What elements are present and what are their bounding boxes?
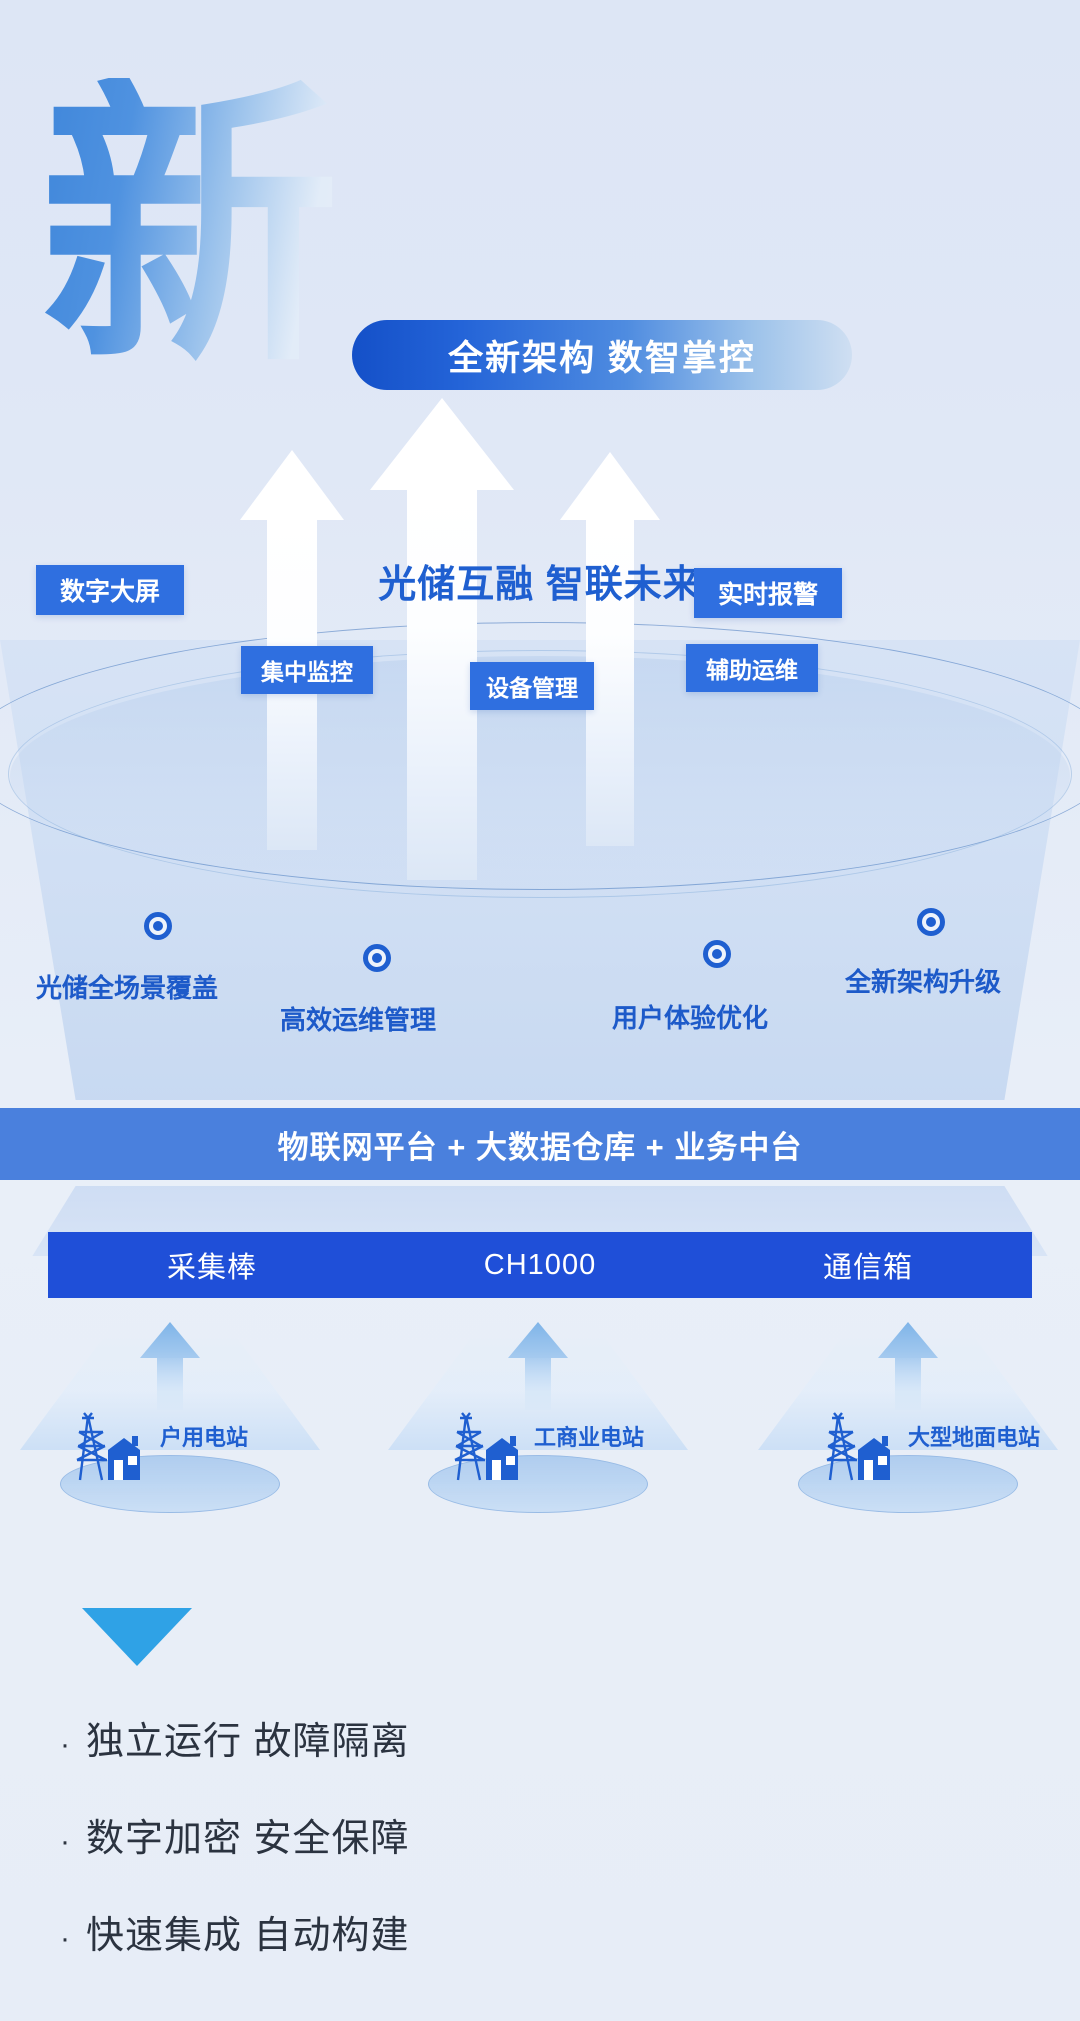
device-item-comm-box[interactable]: 通信箱 — [704, 1244, 1032, 1286]
list-item: · 数字加密 安全保障 — [60, 1807, 660, 1862]
device-item-collector[interactable]: 采集棒 — [48, 1244, 376, 1286]
bullet-marker: · — [60, 1730, 86, 1760]
bullet-text: 快速集成 自动构建 — [86, 1904, 410, 1959]
middle-platform-bar: 物联网平台 + 大数据仓库 + 业务中台 — [0, 1108, 1080, 1180]
chip-label: 数字大屏 — [60, 572, 160, 608]
power-tower-house-icon — [822, 1410, 902, 1493]
chip-central-monitoring[interactable]: 集中监控 — [241, 646, 373, 694]
list-item: · 快速集成 自动构建 — [60, 1904, 660, 1959]
bottom-bullet-list: · 独立运行 故障隔离 · 数字加密 安全保障 · 快速集成 自动构建 — [60, 1710, 660, 2001]
device-item-ch1000[interactable]: CH1000 — [376, 1249, 704, 1282]
power-tower-house-icon — [72, 1410, 152, 1493]
chip-digital-dashboard[interactable]: 数字大屏 — [36, 565, 184, 615]
growth-arrow-right — [560, 452, 660, 846]
list-item: · 独立运行 故障隔离 — [60, 1710, 660, 1765]
chip-realtime-alarm[interactable]: 实时报警 — [694, 568, 842, 618]
bullet-text: 数字加密 安全保障 — [86, 1807, 410, 1862]
marker-dot — [153, 921, 163, 931]
feature-marker-1 — [144, 912, 172, 940]
station-label-utility: 大型地面电站 — [908, 1420, 1040, 1452]
chip-label: 设备管理 — [486, 669, 578, 703]
device-bar: 采集棒 CH1000 通信箱 — [48, 1232, 1032, 1298]
feature-label-full-scene: 光储全场景覆盖 — [36, 968, 218, 1005]
feature-marker-4 — [917, 908, 945, 936]
feature-label-efficient-ops: 高效运维管理 — [280, 1000, 436, 1037]
chip-label: 实时报警 — [718, 575, 818, 611]
chip-label: 集中监控 — [261, 653, 353, 687]
growth-arrow-center — [370, 398, 514, 880]
bullet-marker: · — [60, 1827, 86, 1857]
poster-root: 新 全新架构 数智掌控 光储互融 智联未来 数字大屏 实时报警 集中监控 设备管… — [0, 0, 1080, 2021]
station-label-residential: 户用电站 — [160, 1420, 248, 1452]
marker-dot — [926, 917, 936, 927]
chip-assisted-ops[interactable]: 辅助运维 — [686, 644, 818, 692]
bullet-text: 独立运行 故障隔离 — [86, 1710, 410, 1765]
hero-banner: 全新架构 数智掌控 — [352, 320, 852, 390]
chip-device-management[interactable]: 设备管理 — [470, 662, 594, 710]
marker-dot — [372, 953, 382, 963]
chip-label: 辅助运维 — [706, 651, 798, 685]
hero-big-character: 新 — [40, 78, 340, 378]
feature-label-new-architecture: 全新架构升级 — [845, 962, 1001, 999]
marker-dot — [712, 949, 722, 959]
middle-platform-bar-label: 物联网平台 + 大数据仓库 + 业务中台 — [278, 1122, 803, 1167]
down-triangle-icon — [82, 1608, 192, 1666]
bullet-marker: · — [60, 1924, 86, 1954]
station-label-commercial: 工商业电站 — [534, 1420, 644, 1452]
feature-label-user-experience: 用户体验优化 — [612, 998, 768, 1035]
power-tower-house-icon — [450, 1410, 530, 1493]
feature-marker-3 — [703, 940, 731, 968]
hero-banner-label: 全新架构 数智掌控 — [448, 330, 756, 381]
feature-marker-2 — [363, 944, 391, 972]
